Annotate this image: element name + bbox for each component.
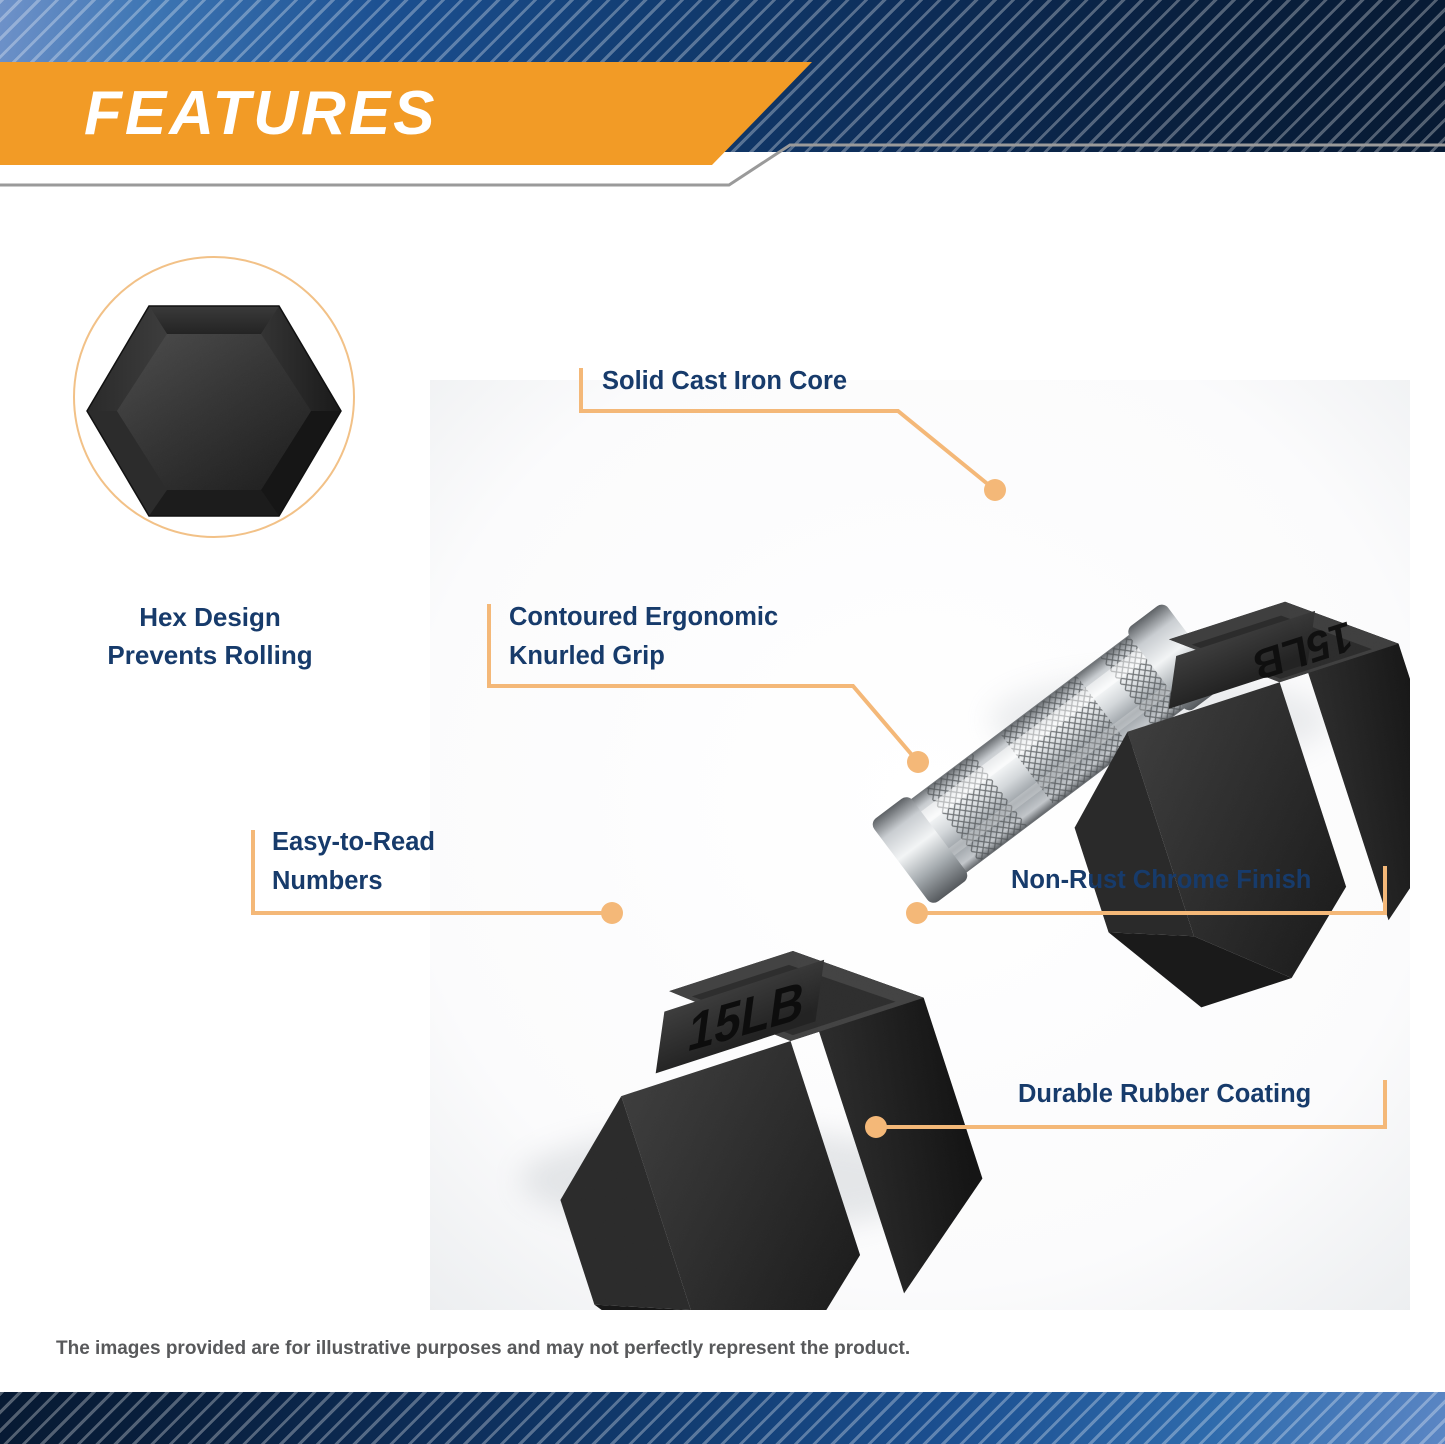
hex-caption-line1: Hex Design <box>45 598 375 636</box>
header-gray-step-divider <box>0 138 1445 190</box>
callout-label-contoured-knurled-grip: Contoured Ergonomic Knurled Grip <box>509 598 778 676</box>
dumbbell-product-image: 15LB 15LB <box>430 380 1410 1310</box>
hex-caption-line2: Prevents Rolling <box>45 636 375 674</box>
callout-line1: Contoured Ergonomic <box>509 598 778 637</box>
hexagon-icon <box>85 300 343 522</box>
callout-line2: Knurled Grip <box>509 637 778 676</box>
callout-line1: Easy-to-Read <box>272 823 435 862</box>
footer-banner <box>0 1392 1445 1444</box>
disclaimer-text: The images provided are for illustrative… <box>56 1338 910 1360</box>
callout-line2: Numbers <box>272 862 435 901</box>
callout-label-durable-rubber-coating: Durable Rubber Coating <box>1018 1075 1311 1114</box>
callout-label-easy-to-read-numbers: Easy-to-Read Numbers <box>272 823 435 901</box>
callout-label-solid-cast-iron-core: Solid Cast Iron Core <box>602 362 847 401</box>
callout-label-non-rust-chrome-finish: Non-Rust Chrome Finish <box>1011 861 1311 900</box>
hex-detail-caption: Hex Design Prevents Rolling <box>45 598 375 674</box>
